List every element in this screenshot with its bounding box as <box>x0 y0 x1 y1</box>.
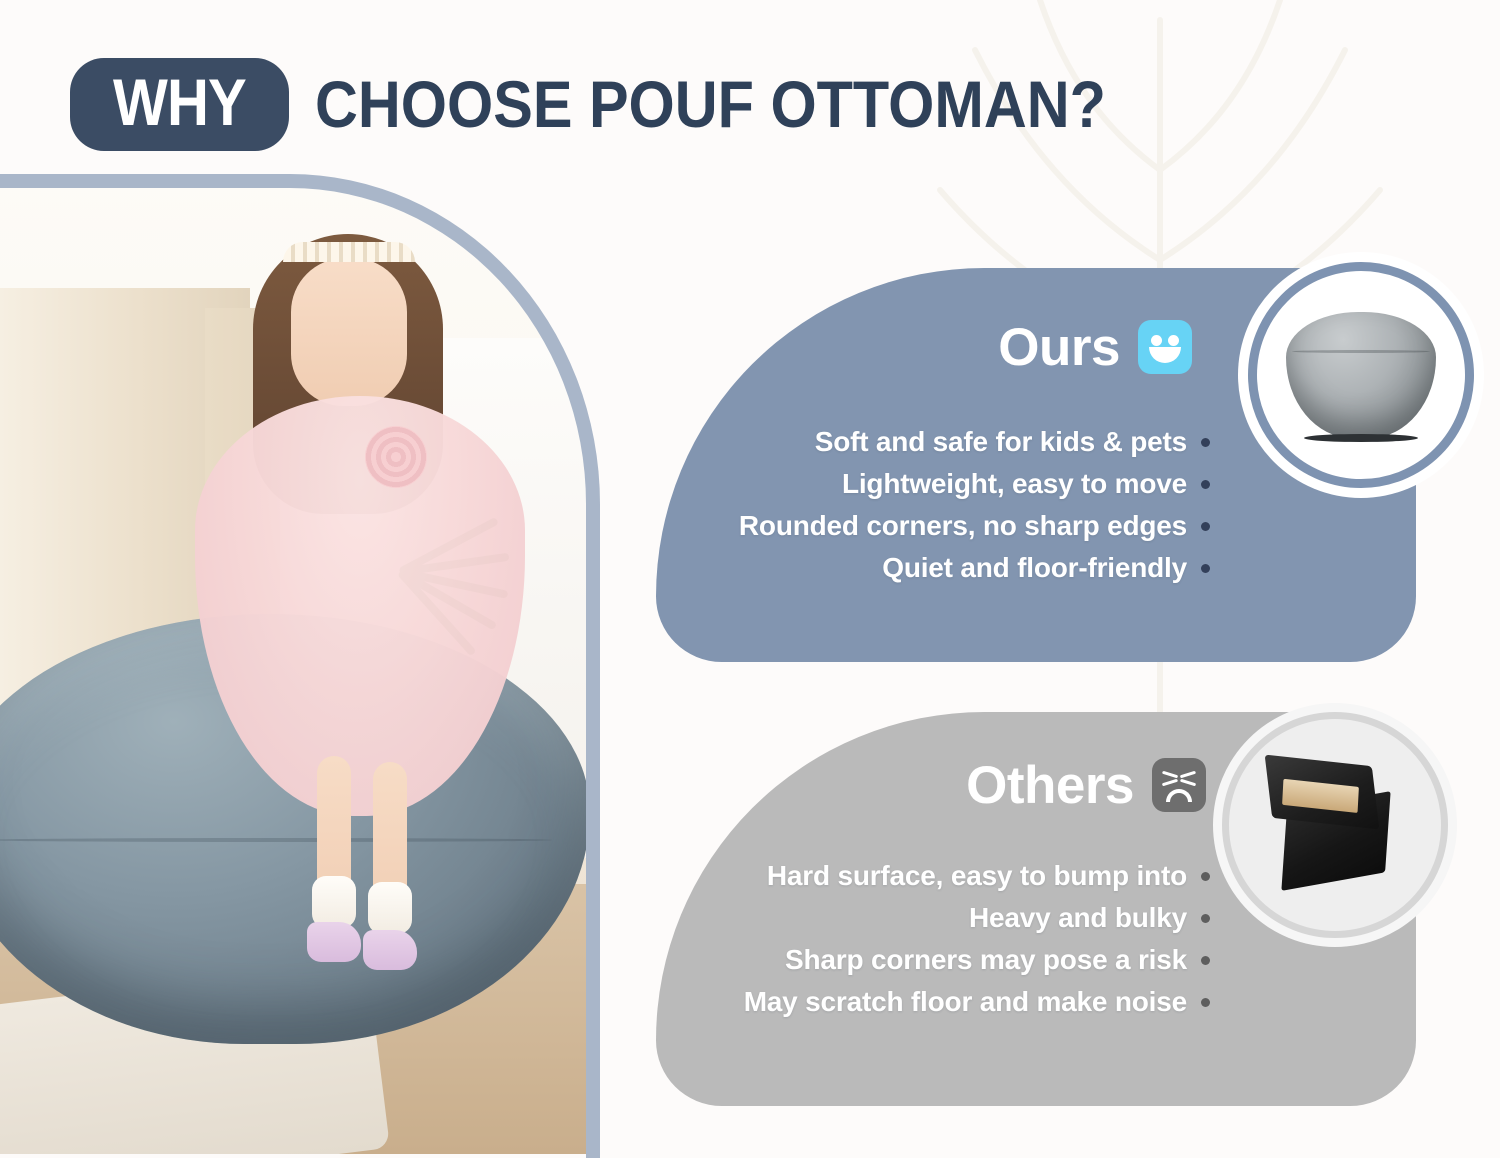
pink-dress <box>195 396 525 816</box>
panel-others-bullets: Hard surface, easy to bump into Heavy an… <box>744 860 1210 1018</box>
list-item: Sharp corners may pose a risk <box>785 944 1210 976</box>
bullet-label: Hard surface, easy to bump into <box>767 860 1187 892</box>
bullet-label: Lightweight, easy to move <box>842 468 1187 500</box>
bullet-label: Sharp corners may pose a risk <box>785 944 1187 976</box>
squint-eye-right <box>1180 773 1196 785</box>
eye-right <box>1168 335 1179 346</box>
panel-ours-header: Ours <box>998 320 1192 374</box>
list-item: Rounded corners, no sharp edges <box>739 510 1210 542</box>
sock-left <box>312 876 356 928</box>
list-item: May scratch floor and make noise <box>744 986 1210 1018</box>
panel-ours-bullets: Soft and safe for kids & pets Lightweigh… <box>739 426 1210 584</box>
eye-left <box>1151 335 1162 346</box>
bullet-label: Quiet and floor-friendly <box>882 552 1187 584</box>
bullet-label: Soft and safe for kids & pets <box>815 426 1187 458</box>
panel-others-title: Others <box>966 759 1134 812</box>
why-badge: WHY <box>70 58 289 151</box>
page-title: WHY CHOOSE POUF OTTOMAN? <box>70 58 1194 151</box>
bullet-dot-icon <box>1201 914 1210 923</box>
list-item: Lightweight, easy to move <box>842 468 1210 500</box>
shoe-left <box>307 922 361 962</box>
bullet-dot-icon <box>1201 438 1210 447</box>
black-box-ottoman-image <box>1260 755 1410 895</box>
grimacing-face-icon <box>1152 758 1206 812</box>
rose-applique <box>365 426 427 488</box>
product-thumbnail-others <box>1222 712 1448 938</box>
panel-others-header: Others <box>966 758 1206 812</box>
bullet-dot-icon <box>1201 564 1210 573</box>
box-lid <box>1265 755 1380 830</box>
squint-eye-left <box>1162 773 1178 785</box>
room-background <box>0 178 620 1154</box>
bullet-dot-icon <box>1201 872 1210 881</box>
lifestyle-photo-clip <box>0 178 620 1154</box>
bullet-dot-icon <box>1201 998 1210 1007</box>
face <box>291 258 407 406</box>
lifestyle-photo <box>0 178 620 1154</box>
bullet-label: May scratch floor and make noise <box>744 986 1187 1018</box>
shoe-right <box>363 930 417 970</box>
product-thumbnail-ours <box>1248 262 1474 488</box>
page-title-rest: CHOOSE POUF OTTOMAN? <box>315 66 1106 142</box>
bullet-label: Rounded corners, no sharp edges <box>739 510 1187 542</box>
list-item: Soft and safe for kids & pets <box>815 426 1210 458</box>
round-pouf-ottoman-image <box>1286 312 1436 438</box>
list-item: Hard surface, easy to bump into <box>767 860 1210 892</box>
smile-mouth <box>1149 347 1181 363</box>
pearl-headband <box>283 242 415 262</box>
bullet-dot-icon <box>1201 480 1210 489</box>
bullet-dot-icon <box>1201 522 1210 531</box>
girl-figure <box>205 196 505 1056</box>
frown-mouth <box>1166 789 1192 802</box>
why-badge-label: WHY <box>113 72 246 133</box>
smiling-face-icon <box>1138 320 1192 374</box>
bullet-dot-icon <box>1201 956 1210 965</box>
list-item: Quiet and floor-friendly <box>882 552 1210 584</box>
bullet-label: Heavy and bulky <box>969 902 1187 934</box>
panel-ours-title: Ours <box>998 321 1120 374</box>
list-item: Heavy and bulky <box>969 902 1210 934</box>
sock-right <box>368 882 412 934</box>
